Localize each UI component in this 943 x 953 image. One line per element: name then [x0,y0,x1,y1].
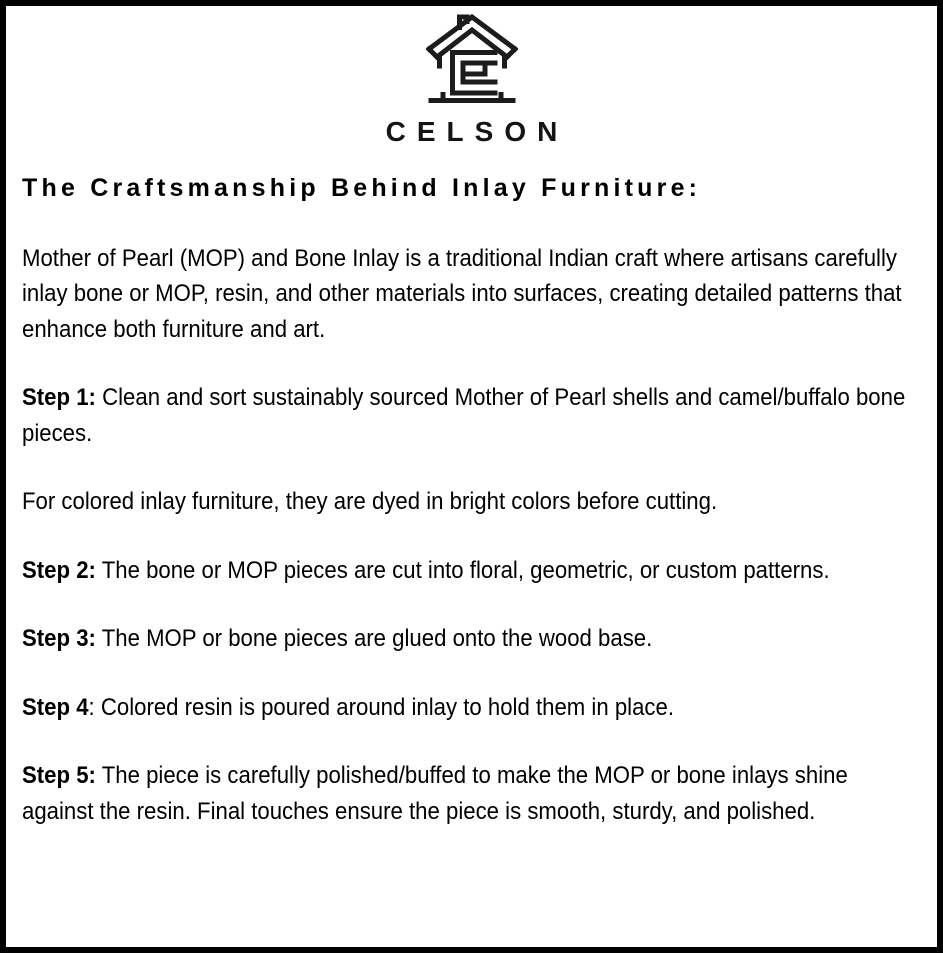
step-separator-3: : [89,625,96,652]
step-paragraph-5: Step 4: Colored resin is poured around i… [22,690,910,726]
note-text: For colored inlay furniture, they are dy… [22,488,717,515]
spacer [22,203,910,241]
spacer [22,520,910,553]
step-label-3: Step 3 [22,625,89,652]
brand-wordmark: CELSON [6,118,937,146]
step-text-4: Colored resin is poured around inlay to … [95,694,674,721]
page-title: The Craftsmanship Behind Inlay Furniture… [22,174,910,203]
spacer [22,588,910,621]
spacer [22,657,910,690]
step-paragraph-3: Step 2: The bone or MOP pieces are cut i… [22,553,910,589]
step-text-3: The MOP or bone pieces are glued onto th… [96,625,652,652]
spacer [22,725,910,758]
step-paragraph-6: Step 5: The piece is carefully polished/… [22,758,910,829]
step-label-2: Step 2 [22,557,89,584]
step-text-2: The bone or MOP pieces are cut into flor… [96,557,830,584]
step-text-5: The piece is carefully polished/buffed t… [22,762,848,825]
step-paragraph-4: Step 3: The MOP or bone pieces are glued… [22,621,910,657]
step-label-4: Step 4 [22,694,89,721]
poster-card: CELSON The Craftsmanship Behind Inlay Fu… [0,0,943,953]
spacer [22,347,910,380]
intro-paragraph: Mother of Pearl (MOP) and Bone Inlay is … [22,241,910,348]
house-inlay-logo-icon [426,12,518,108]
step-separator-1: : [89,384,96,411]
brand-header: CELSON [6,6,937,146]
poster-body: The Craftsmanship Behind Inlay Furniture… [6,174,937,829]
step-separator-5: : [89,762,96,789]
spacer [22,451,910,484]
step-paragraph-1: Step 1: Clean and sort sustainably sourc… [22,380,910,451]
step-paragraph-2: For colored inlay furniture, they are dy… [22,484,910,520]
step-label-1: Step 1 [22,384,89,411]
step-text-1: Clean and sort sustainably sourced Mothe… [22,384,905,447]
step-separator-2: : [89,557,96,584]
step-label-5: Step 5 [22,762,89,789]
